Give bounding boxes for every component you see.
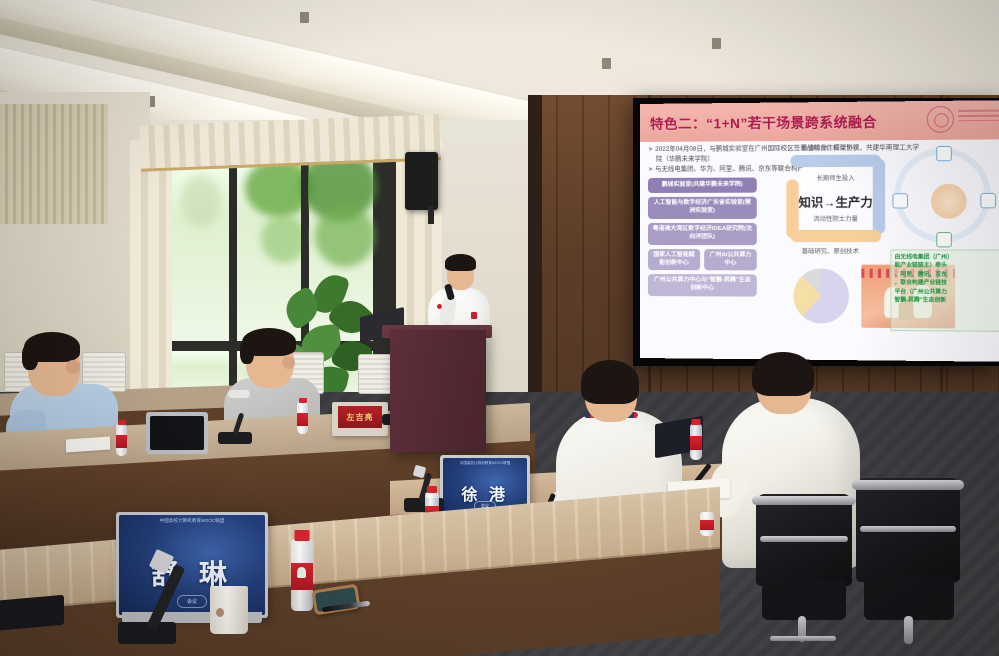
cup-logo-icon — [216, 608, 224, 617]
slide-box-6: 广州公共算力中心与“智鹏·昇腾”生态创新中心 — [648, 274, 757, 297]
shirt-badge-icon — [471, 312, 477, 319]
water-bottle[interactable] — [700, 512, 714, 536]
cycle-label-above: 长期师生投入 — [786, 173, 885, 183]
green-note-line: ，联合构建产业链技 — [895, 279, 999, 288]
wall-speaker-icon — [405, 152, 438, 210]
ecosystem-wheel-icon — [895, 148, 991, 243]
cycle-arrow-bottom — [790, 230, 881, 242]
green-note-line: 智鹏-昇腾”生态创新 — [895, 296, 999, 305]
cycle-caption-bottom: 基础研究、原创技术 — [802, 246, 859, 255]
name-placard: 左吉亮 — [332, 402, 388, 436]
podium — [390, 330, 486, 452]
placard-text: 左吉亮 — [347, 412, 374, 423]
cycle-arrow-top — [790, 155, 881, 168]
ceiling-fixture-icon — [300, 12, 309, 23]
slide-bullet-1: ➤ 2022年04月08日，与鹏城实验室在广州国际校区签署战略合作框架协议，共建… — [648, 143, 919, 155]
knowledge-cycle-diagram: 长期师生投入 知识→生产力 流动性院士力量 — [786, 154, 885, 242]
ceiling-fixture-icon — [712, 38, 721, 49]
water-bottle[interactable] — [690, 424, 702, 460]
cycle-caption-top: 价值拉动、设计引领 — [802, 142, 859, 152]
slide-box-5: 广州AI公共算力中心 — [704, 249, 757, 270]
speaker-mount — [428, 206, 434, 224]
slide-box-1: 鹏城实验室(共建华鹏未来学院) — [648, 177, 757, 192]
slide-pie-chart — [793, 268, 848, 323]
wall-slat-panel — [0, 104, 108, 224]
conference-room-photo: 特色二：“1+N”若干场景跨系统融合 ➤ 2022年04月08日，与鹏城实验室在… — [0, 0, 999, 656]
nameplate-subtitle: 中国高校计算机教育MOOC联盟 — [119, 518, 265, 524]
university-name-text — [958, 109, 999, 121]
slide-green-note: 由无线电集团（广州） 能产业链链主）牵头 、阿里、腾讯、京东 ，联合构建产业链技… — [890, 249, 999, 332]
slide-box-3: 粤港澳大湾区数字经济IDEA研究院(沈向洋团队) — [648, 223, 757, 245]
nameplate-subtitle: 中国高校计算机教育MOOC联盟 — [443, 461, 527, 466]
cycle-label-below: 流动性院士力量 — [786, 214, 885, 223]
green-note-line: 由无线电集团（广州） — [895, 253, 999, 262]
university-logo-icon — [927, 106, 954, 133]
water-bottle[interactable] — [116, 424, 127, 456]
green-note-line: 能产业链链主）牵头 — [895, 262, 999, 271]
nameplate-pill: 会议 — [177, 595, 207, 608]
slide-bullet-2: 院（华鹏未来学院） — [656, 155, 714, 165]
curtain-left — [130, 140, 172, 408]
water-bottle[interactable] — [291, 539, 313, 611]
slide-title: 特色二：“1+N”若干场景跨系统融合 — [650, 111, 877, 133]
paper-cup[interactable] — [210, 586, 248, 634]
cycle-center-text: 知识→生产力 — [786, 193, 885, 211]
bottle-logo-icon — [297, 567, 306, 578]
slide-box-4: 国家人工智能赋能创新中心 — [648, 249, 700, 270]
water-bottle[interactable] — [297, 402, 308, 434]
nameplate-screen-blank[interactable] — [146, 412, 208, 454]
slide-box-2: 人工智能与数字经济广东省实验室(琶洲实验室) — [648, 197, 757, 219]
presentation-slide: 特色二：“1+N”若干场景跨系统融合 ➤ 2022年04月08日，与鹏城实验室在… — [640, 100, 999, 362]
ceiling-fixture-icon — [602, 58, 611, 69]
